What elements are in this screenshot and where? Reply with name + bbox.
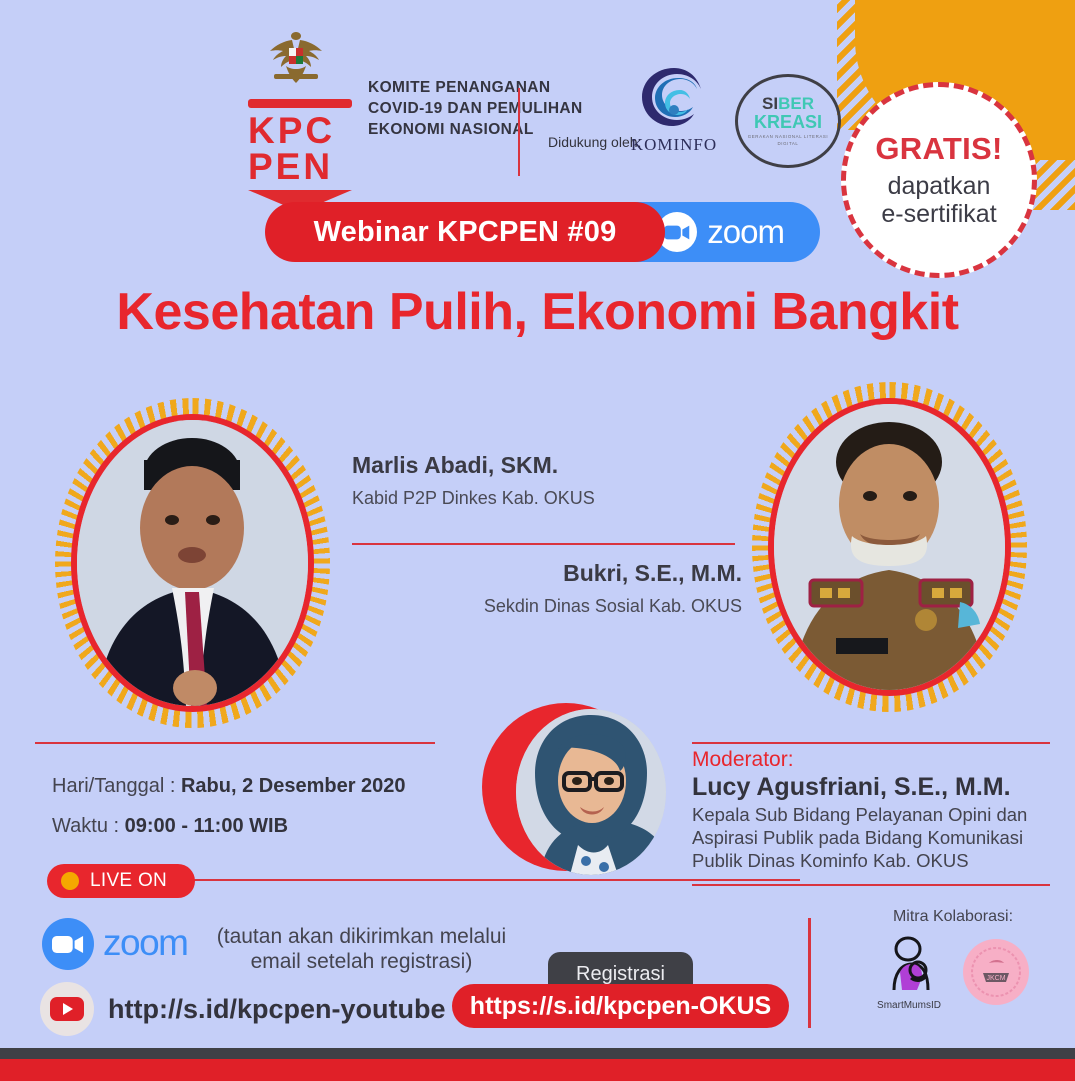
kpcpen-top-bar [248, 99, 352, 108]
kominfo-logo: KOMINFO [630, 66, 718, 155]
smartmums-logo-icon [878, 932, 940, 994]
registration-url-button[interactable]: https://s.id/kpcpen-OKUS [452, 984, 789, 1028]
speaker-2-name: Bukri, S.E., M.M. [352, 560, 742, 587]
speaker-2-info: Bukri, S.E., M.M. Sekdin Dinas Sosial Ka… [352, 560, 742, 617]
moderator-desc-line3: Publik Dinas Kominfo Kab. OKUS [692, 850, 1050, 873]
speaker-2-portrait [774, 404, 1005, 690]
speaker-1-avatar [77, 420, 308, 706]
live-indicator-dot-icon [61, 872, 79, 890]
zoom-info-row: zoom (tautan akan dikirimkan melalui ema… [42, 918, 521, 974]
zoom-wordmark-title: zoom [707, 213, 784, 251]
gratis-subtitle-line2: e-sertifikat [881, 200, 996, 228]
moderator-name: Lucy Agusfriani, S.E., M.M. [692, 773, 1050, 802]
jkcm-badge-icon: JKCM [963, 939, 1029, 1005]
kpcpen-abbrev-line1: KPC [248, 113, 352, 149]
zoom-note-line1: (tautan akan dikirimkan melalui [201, 924, 521, 949]
kpcpen-logo-block: KPC PEN KOMITE PENANGANAN COVID-19 DAN P… [248, 26, 583, 212]
moderator-avatar [516, 709, 666, 875]
moderator-desc-line2: Aspirasi Publik pada Bidang Komunikasi [692, 827, 1050, 850]
gratis-subtitle-line1: dapatkan [888, 172, 991, 200]
youtube-url[interactable]: http://s.id/kpcpen-youtube [108, 994, 446, 1025]
supported-by-label: Didukung oleh: [548, 134, 641, 150]
bottom-vertical-divider [808, 918, 811, 1028]
garuda-emblem-icon [262, 26, 330, 92]
moderator-info: Moderator: Lucy Agusfriani, S.E., M.M. K… [692, 748, 1050, 873]
time-label: Waktu : [52, 815, 125, 837]
moderator-desc-line1: Kepala Sub Bidang Pelayanan Opini dan [692, 804, 1050, 827]
zoom-wordmark: zoom [103, 922, 187, 964]
partner-1-caption: SmartMumsID [877, 1000, 941, 1011]
moderator-label: Moderator: [692, 748, 1050, 772]
date-label: Hari/Tanggal : [52, 775, 181, 797]
webinar-label-pill: Webinar KPCPEN #09 [265, 202, 665, 262]
siberkreasi-logo: SIBER KREASI GERAKAN NASIONAL LITERASI D… [735, 74, 841, 168]
speaker-1-name: Marlis Abadi, SKM. [352, 452, 742, 479]
partner-smartmumsid: SmartMumsID [877, 932, 941, 1011]
footer-dark-bar [0, 1048, 1075, 1059]
zoom-camera-glyph-2 [52, 934, 84, 955]
partners-section: Mitra Kolaborasi: SmartMumsID [838, 908, 1068, 1011]
youtube-icon[interactable] [40, 982, 94, 1036]
footer-red-bar [0, 1059, 1075, 1081]
speaker-1-portrait [77, 420, 308, 706]
youtube-play-glyph [50, 997, 84, 1021]
gratis-title: GRATIS! [875, 132, 1002, 167]
zoom-icon [42, 918, 94, 970]
zoom-camera-glyph [664, 224, 690, 241]
organization-name: KOMITE PENANGANAN COVID-19 DAN PEMULIHAN… [368, 78, 583, 141]
siber-text-si: SI [762, 94, 778, 113]
svg-text:JKCM: JKCM [986, 975, 1005, 982]
moderator-divider-top [692, 742, 1050, 744]
partners-label: Mitra Kolaborasi: [838, 908, 1068, 926]
org-name-line1: KOMITE PENANGANAN [368, 78, 583, 99]
kpcpen-abbrev-line2: PEN [248, 149, 352, 185]
time-value: 09:00 - 11:00 WIB [125, 815, 288, 837]
siber-line1: SIBER [762, 95, 814, 112]
jkcm-logo-glyph: JKCM [969, 945, 1023, 999]
kominfo-wave-icon [638, 66, 710, 128]
schedule-info: Hari/Tanggal : Rabu, 2 Desember 2020 Wak… [52, 775, 406, 855]
org-name-line2: COVID-19 DAN PEMULIHAN [368, 99, 583, 120]
live-on-label: LIVE ON [90, 870, 167, 892]
kpcpen-wordmark: KPC PEN [248, 99, 352, 212]
speaker-1-info: Marlis Abadi, SKM. Kabid P2P Dinkes Kab.… [352, 452, 742, 509]
speakers-divider [352, 543, 735, 545]
moderator-divider-bottom [692, 884, 1050, 886]
youtube-row[interactable]: http://s.id/kpcpen-youtube [40, 982, 446, 1036]
webinar-poster: GRATIS! dapatkan e-sertifikat [0, 0, 1075, 1081]
zoom-note: (tautan akan dikirimkan melalui email se… [201, 924, 521, 974]
page-title: Kesehatan Pulih, Ekonomi Bangkit [0, 282, 1075, 342]
schedule-time-row: Waktu : 09:00 - 11:00 WIB [52, 815, 406, 838]
schedule-divider [35, 742, 435, 744]
header-divider [518, 88, 520, 176]
gratis-badge: GRATIS! dapatkan e-sertifikat [841, 82, 1037, 278]
live-on-badge: LIVE ON [47, 864, 195, 898]
date-value: Rabu, 2 Desember 2020 [181, 775, 406, 797]
speaker-photo-2 [752, 382, 1027, 712]
speaker-photo-1 [55, 398, 330, 728]
speaker-1-role: Kabid P2P Dinkes Kab. OKUS [352, 488, 742, 509]
live-on-rule [180, 879, 800, 881]
siber-tagline: GERAKAN NASIONAL LITERASI DIGITAL [738, 134, 838, 147]
schedule-date-row: Hari/Tanggal : Rabu, 2 Desember 2020 [52, 775, 406, 798]
play-triangle-icon [63, 1003, 73, 1015]
kominfo-wordmark: KOMINFO [630, 135, 718, 155]
siber-text-ber: BER [778, 94, 814, 113]
moderator-portrait [516, 709, 666, 875]
speaker-2-role: Sekdin Dinas Sosial Kab. OKUS [352, 596, 742, 617]
zoom-note-line2: email setelah registrasi) [201, 949, 521, 974]
siber-line2: KREASI [754, 113, 822, 131]
speaker-2-avatar [774, 404, 1005, 690]
partner-jkcm: JKCM [963, 939, 1029, 1005]
